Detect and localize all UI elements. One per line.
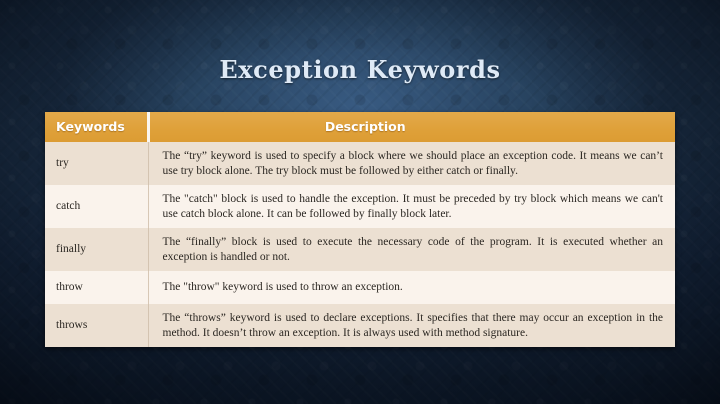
table-row: finally The “finally” block is used to e… (45, 228, 675, 271)
slide-canvas: Exception Keywords Keywords Description … (0, 0, 720, 404)
table-row: throw The "throw" keyword is used to thr… (45, 271, 675, 304)
keyword-cell-throw: throw (45, 271, 148, 304)
description-cell-finally: The “finally” block is used to execute t… (148, 228, 675, 271)
keyword-cell-try: try (45, 142, 148, 185)
table-header: Keywords Description (45, 112, 675, 142)
page-title: Exception Keywords (0, 55, 720, 85)
column-header-keywords: Keywords (45, 112, 148, 142)
keyword-cell-throws: throws (45, 304, 148, 347)
keyword-cell-finally: finally (45, 228, 148, 271)
description-cell-throw: The "throw" keyword is used to throw an … (148, 271, 675, 304)
table-row: try The “try” keyword is used to specify… (45, 142, 675, 185)
keyword-cell-catch: catch (45, 185, 148, 228)
exception-keywords-table: Keywords Description try The “try” keywo… (45, 112, 675, 347)
column-header-description: Description (148, 112, 675, 142)
description-cell-throws: The “throws” keyword is used to declare … (148, 304, 675, 347)
description-cell-try: The “try” keyword is used to specify a b… (148, 142, 675, 185)
table-header-row: Keywords Description (45, 112, 675, 142)
table-row: catch The "catch" block is used to handl… (45, 185, 675, 228)
table-row: throws The “throws” keyword is used to d… (45, 304, 675, 347)
table-body: try The “try” keyword is used to specify… (45, 142, 675, 347)
description-cell-catch: The "catch" block is used to handle the … (148, 185, 675, 228)
